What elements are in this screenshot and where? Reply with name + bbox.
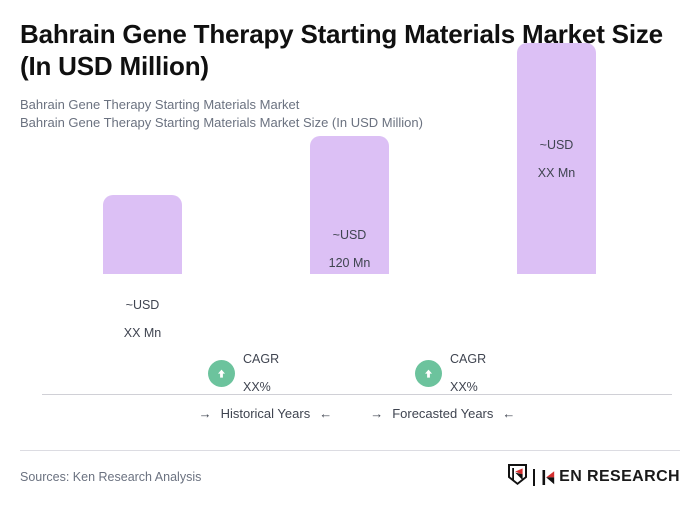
wordmark-k-icon [542, 469, 555, 486]
arrow-left-icon: ← [319, 407, 332, 420]
footer-divider [20, 450, 680, 451]
bar-label-base-year: ~USD 120 Mn [310, 214, 389, 284]
bar-label-forecast-line1: ~USD [517, 138, 596, 152]
bar-label-base-year-line1: ~USD [310, 228, 389, 242]
bar-label-forecast-line2: XX Mn [517, 166, 596, 180]
bar-label-forecast: ~USD XX Mn [517, 124, 596, 194]
period-axis: → Historical Years ← → Forecasted Years … [42, 406, 672, 421]
period-historical-label: Historical Years [221, 406, 311, 421]
cagr-value-1: XX% [243, 380, 279, 394]
cagr-value-2: XX% [450, 380, 486, 394]
cagr-label-2: CAGR [450, 352, 486, 366]
cagr-badge-historical-to-base[interactable]: CAGR XX% [208, 338, 279, 408]
period-forecasted-label: Forecasted Years [392, 406, 493, 421]
chart-footer: Sources: Ken Research Analysis EN RESEAR… [20, 462, 680, 492]
cagr-text-base-to-forecast: CAGR XX% [450, 338, 486, 408]
arrow-left-icon: ← [502, 407, 515, 420]
ken-research-shield-icon [507, 463, 528, 491]
cagr-label-1: CAGR [243, 352, 279, 366]
axis-baseline [42, 394, 672, 395]
arrow-right-icon: → [370, 407, 383, 420]
bar-label-base-year-line2: 120 Mn [310, 256, 389, 270]
logo-divider-bar [533, 469, 535, 486]
bar-historical[interactable] [103, 195, 182, 274]
ken-research-logo: EN RESEARCH [507, 463, 680, 491]
period-forecasted-years: → Forecasted Years ← [370, 406, 515, 421]
bar-label-historical: ~USD XX Mn [103, 284, 182, 354]
cagr-text-historical-to-base: CAGR XX% [243, 338, 279, 408]
sources-text: Sources: Ken Research Analysis [20, 470, 201, 484]
arrow-right-icon: → [199, 407, 212, 420]
chart-plot-area: ~USD XX Mn CAGR XX% ~USD 120 Mn CAGR XX% [0, 0, 700, 400]
cagr-badge-base-to-forecast[interactable]: CAGR XX% [415, 338, 486, 408]
bar-label-historical-line2: XX Mn [103, 326, 182, 340]
cagr-arrow-up-icon [415, 360, 442, 387]
cagr-arrow-up-icon [208, 360, 235, 387]
brand-wordmark: EN RESEARCH [559, 468, 680, 486]
bar-label-historical-line1: ~USD [103, 298, 182, 312]
period-historical-years: → Historical Years ← [199, 406, 333, 421]
